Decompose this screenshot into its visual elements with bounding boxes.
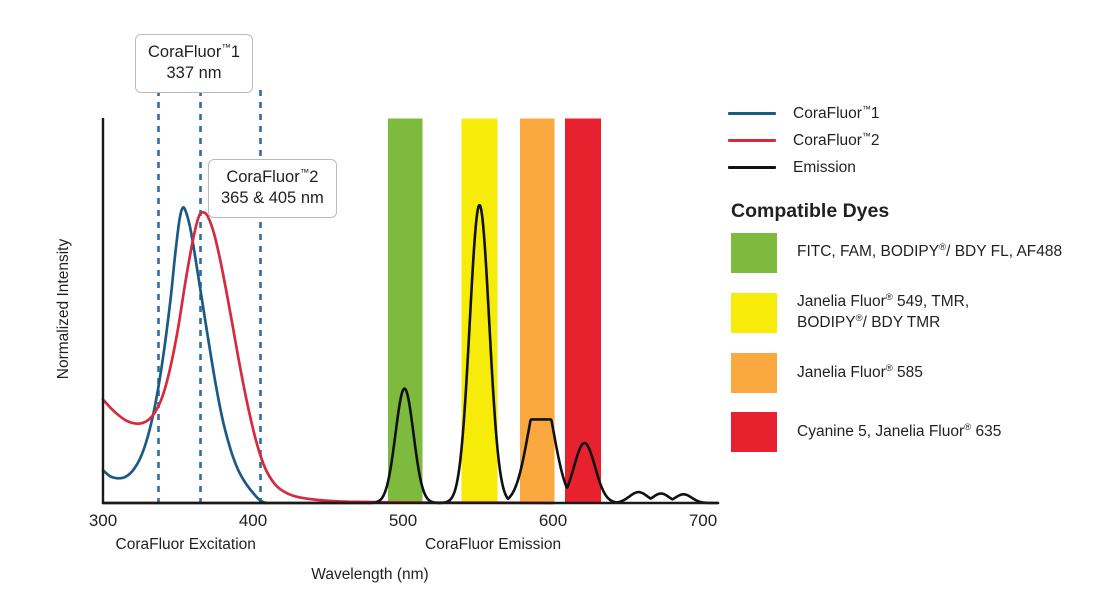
dye-item-red: Cyanine 5, Janelia Fluor® 635 — [731, 412, 1110, 452]
trademark-symbol: ™ — [221, 43, 231, 54]
annotation-corafluor2-line1: CoraFluor™2 — [221, 167, 324, 188]
legend-item-corafluor1: CoraFluor™1 — [728, 100, 1098, 127]
x-tick-label: 600 — [523, 511, 583, 531]
legend-item-label: Emission — [793, 159, 856, 177]
x-tick-label: 700 — [673, 511, 733, 531]
emission-band — [462, 119, 498, 504]
legend-label-tail: 1 — [871, 105, 880, 122]
legend-label-tail: 2 — [871, 132, 880, 149]
dye-label-part: FITC, FAM, BODIPY — [797, 244, 939, 261]
trademark-symbol: ™ — [862, 131, 871, 141]
x-tick-label: 500 — [373, 511, 433, 531]
legend-line-swatch — [728, 166, 776, 169]
registered-symbol: ® — [886, 363, 893, 374]
dye-item-label: Cyanine 5, Janelia Fluor® 635 — [797, 422, 1001, 443]
dye-item-label: Janelia Fluor® 549, TMR, BODIPY®/ BDY TM… — [797, 292, 969, 334]
legend-item-label: CoraFluor™2 — [793, 131, 880, 150]
registered-symbol: ® — [886, 292, 893, 303]
dye-item-label: FITC, FAM, BODIPY®/ BDY FL, AF488 — [797, 242, 1062, 263]
axis-subtitle-excitation: CoraFluor Excitation — [116, 536, 256, 554]
dye-label-part: 635 — [971, 423, 1001, 440]
dye-label-part: Cyanine 5, Janelia Fluor — [797, 423, 964, 440]
legend-line-swatch — [728, 139, 776, 142]
legend-label-main: CoraFluor — [793, 132, 862, 149]
x-axis-title: Wavelength (nm) — [0, 566, 740, 584]
series-legend: CoraFluor™1 CoraFluor™2 Emission — [728, 100, 1098, 181]
dye-item-orange: Janelia Fluor® 585 — [731, 353, 1110, 393]
dye-label-part: 549, TMR, — [893, 293, 969, 310]
dye-color-swatch — [731, 353, 777, 393]
legend-line-swatch — [728, 112, 776, 115]
dye-item-yellow: Janelia Fluor® 549, TMR, BODIPY®/ BDY TM… — [731, 292, 1110, 334]
dye-color-swatch — [731, 412, 777, 452]
compatible-dyes-list: FITC, FAM, BODIPY®/ BDY FL, AF488 Janeli… — [731, 233, 1110, 471]
registered-symbol: ® — [856, 313, 863, 324]
dye-label-part: BODIPY — [797, 314, 856, 331]
dye-label-part: Janelia Fluor — [797, 364, 886, 381]
legend-item-corafluor2: CoraFluor™2 — [728, 127, 1098, 154]
x-tick-label: 400 — [223, 511, 283, 531]
compatible-dyes-title: Compatible Dyes — [731, 200, 889, 223]
annotation-corafluor1-index: 1 — [231, 43, 240, 61]
annotation-corafluor1-line2: 337 nm — [148, 63, 240, 84]
dye-item-green: FITC, FAM, BODIPY®/ BDY FL, AF488 — [731, 233, 1110, 273]
excitation-curve — [103, 207, 267, 503]
dye-label-part: Janelia Fluor — [797, 293, 886, 310]
chart-root: 300400500600700CoraFluor ExcitationCoraF… — [0, 0, 1110, 612]
plot-area: 300400500600700CoraFluor ExcitationCoraF… — [0, 0, 740, 612]
dye-item-label: Janelia Fluor® 585 — [797, 363, 923, 384]
legend-label-main: CoraFluor — [793, 105, 862, 122]
annotation-corafluor2: CoraFluor™2 365 & 405 nm — [208, 159, 337, 218]
legend-item-emission: Emission — [728, 154, 1098, 181]
annotation-corafluor1-line1: CoraFluor™1 — [148, 42, 240, 63]
legend-label-main: Emission — [793, 159, 856, 176]
dye-label-part: / BDY FL, AF488 — [946, 244, 1062, 261]
dye-color-swatch — [731, 293, 777, 333]
trademark-symbol: ™ — [862, 104, 871, 114]
annotation-corafluor2-name: CoraFluor — [226, 168, 299, 186]
annotation-corafluor1: CoraFluor™1 337 nm — [135, 34, 253, 93]
annotation-corafluor1-name: CoraFluor — [148, 43, 221, 61]
dye-color-swatch — [731, 233, 777, 273]
dye-label-part: / BDY TMR — [863, 314, 941, 331]
x-tick-label: 300 — [73, 511, 133, 531]
legend-item-label: CoraFluor™1 — [793, 104, 880, 123]
annotation-corafluor2-line2: 365 & 405 nm — [221, 188, 324, 209]
annotation-corafluor2-index: 2 — [309, 168, 318, 186]
dye-label-part: 585 — [893, 364, 923, 381]
trademark-symbol: ™ — [300, 168, 310, 179]
axis-subtitle-emission: CoraFluor Emission — [425, 536, 561, 554]
y-axis-title: Normalized Intensity — [55, 229, 73, 389]
